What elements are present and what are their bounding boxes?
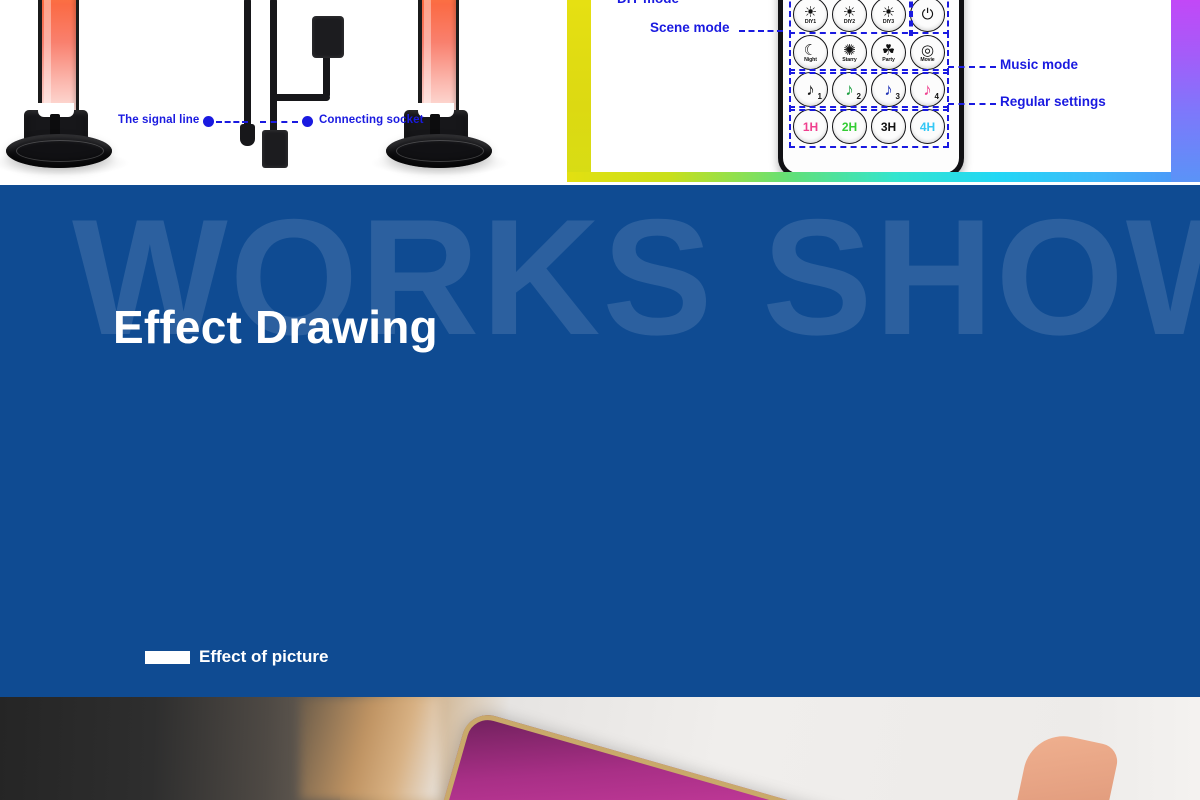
- label-music-mode: Music mode: [1000, 57, 1078, 72]
- light-bar-base: [6, 134, 112, 168]
- effect-of-picture-caption: Effect of picture: [145, 647, 328, 667]
- signal-cable: [244, 0, 251, 128]
- section-heading: Effect Drawing: [113, 300, 438, 354]
- group-box-power: [911, 0, 949, 36]
- works-show-band: WORKS SHOW Effect Drawing Effect of pict…: [0, 185, 1200, 697]
- label-diy-mode: DIY mode: [617, 0, 679, 6]
- caption-marker-bar: [145, 651, 190, 664]
- callout-label-signal-line: The signal line: [118, 114, 199, 126]
- leader-line-regular-settings: [948, 103, 996, 105]
- product-diagram-section: The signal line Connecting socket ☀ DIY1…: [0, 0, 1200, 185]
- usb-connector-upper: [312, 16, 344, 58]
- wiring-diagram-panel: The signal line Connecting socket: [0, 0, 567, 185]
- remote-diagram-panel: ☀ DIY1 ☀ DIY2 ☀ DIY3 ⏻ ☾ N: [591, 0, 1171, 172]
- power-cable: [270, 0, 277, 134]
- phone-bezel: [431, 709, 1008, 800]
- cable-bend-vertical: [323, 52, 330, 98]
- photo-dark-background: [0, 697, 340, 800]
- signal-plug-tip: [240, 124, 255, 146]
- rainbow-gradient-strip: [567, 172, 1200, 182]
- label-regular-settings: Regular settings: [1000, 94, 1106, 109]
- callout-dot-connecting-socket: [302, 116, 313, 127]
- vertical-divider-bar: [567, 0, 591, 177]
- remote-control: ☀ DIY1 ☀ DIY2 ☀ DIY3 ⏻ ☾ N: [778, 0, 964, 172]
- leader-line-music-mode: [948, 66, 996, 68]
- cable-bend-horizontal: [270, 94, 330, 101]
- smartphone: [431, 709, 1008, 800]
- callout-dot-signal-line: [203, 116, 214, 127]
- photo-blurred-wood: [300, 697, 440, 800]
- group-box-regular: [789, 106, 949, 148]
- label-scene-mode: Scene mode: [650, 20, 730, 35]
- callout-label-connecting-socket: Connecting socket: [319, 114, 424, 126]
- group-box-music: [789, 69, 949, 111]
- leader-line-scene-mode: [739, 30, 783, 32]
- right-edge-gradient: [1171, 0, 1200, 182]
- lifestyle-photo: [0, 697, 1200, 800]
- caption-text: Effect of picture: [199, 647, 328, 667]
- group-box-diy: [789, 0, 911, 36]
- cable-assembly: [230, 0, 420, 185]
- group-box-scene: [789, 32, 949, 74]
- power-connector-lower: [262, 130, 288, 168]
- callout-line-signal-line: [216, 121, 248, 123]
- callout-line-connecting-socket: [260, 121, 298, 123]
